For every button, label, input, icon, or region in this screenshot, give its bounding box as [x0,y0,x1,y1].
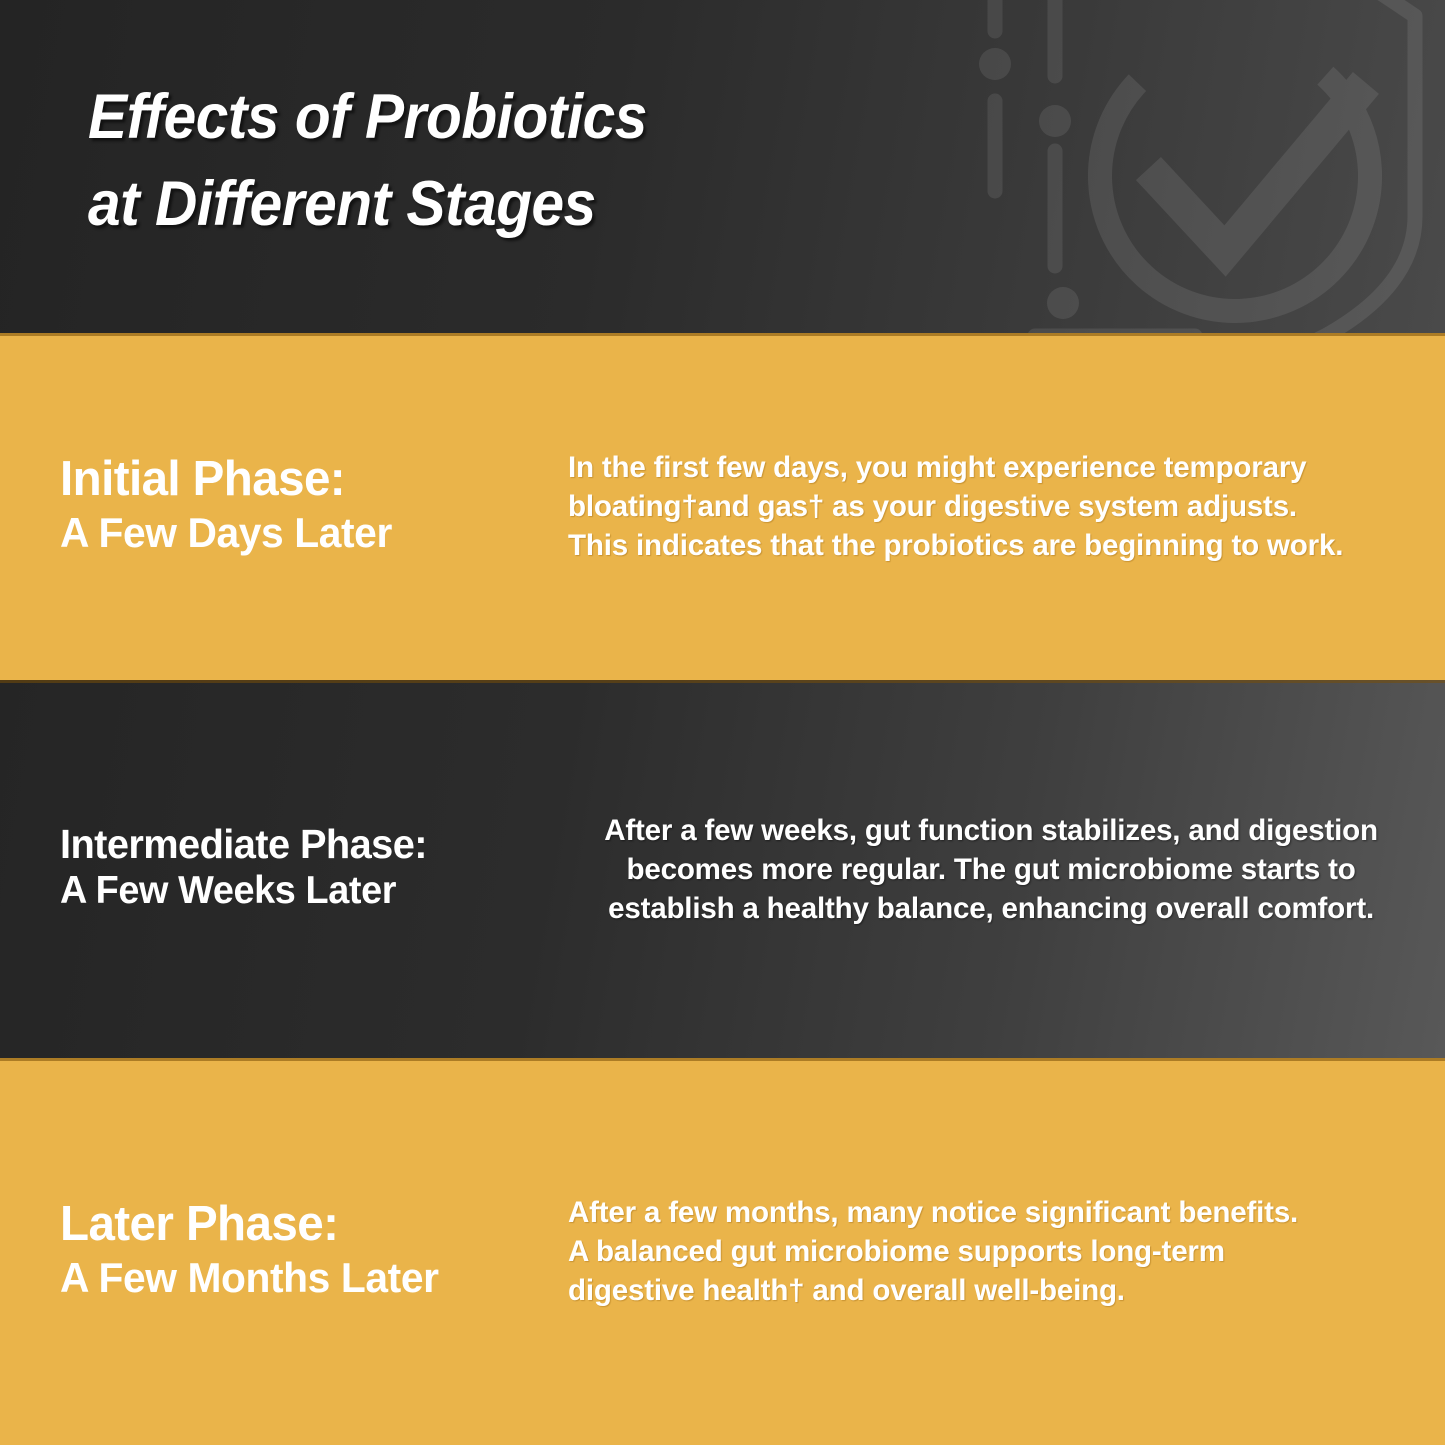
phase-heading-later: Later Phase: A Few Months Later [60,1198,568,1306]
page-title: Effects of Probiotics at Different Stage… [88,74,647,248]
phase-heading-line1: Intermediate Phase: [60,822,543,866]
section-initial-phase: Initial Phase: A Few Days Later In the f… [0,333,1445,680]
phase-body-intermediate: After a few weeks, gut function stabiliz… [568,811,1414,928]
section-intermediate-phase: Intermediate Phase: A Few Weeks Later Af… [0,680,1445,1058]
shield-check-icon [895,0,1445,333]
phase-body-later: After a few months, many notice signific… [568,1193,1414,1310]
header-banner: Effects of Probiotics at Different Stage… [0,0,1445,333]
phase-heading-line1: Initial Phase: [60,453,543,506]
phase-heading-intermediate: Intermediate Phase: A Few Weeks Later [60,822,568,917]
phase-body-initial: In the first few days, you might experie… [568,448,1414,565]
infographic-poster: Effects of Probiotics at Different Stage… [0,0,1445,1445]
section-later-phase: Later Phase: A Few Months Later After a … [0,1058,1445,1445]
phase-heading-line1: Later Phase: [60,1198,543,1251]
phase-heading-line2: A Few Months Later [60,1251,543,1306]
phase-heading-line2: A Few Days Later [60,506,543,561]
phase-heading-initial: Initial Phase: A Few Days Later [60,453,568,561]
phase-heading-line2: A Few Weeks Later [60,866,543,917]
